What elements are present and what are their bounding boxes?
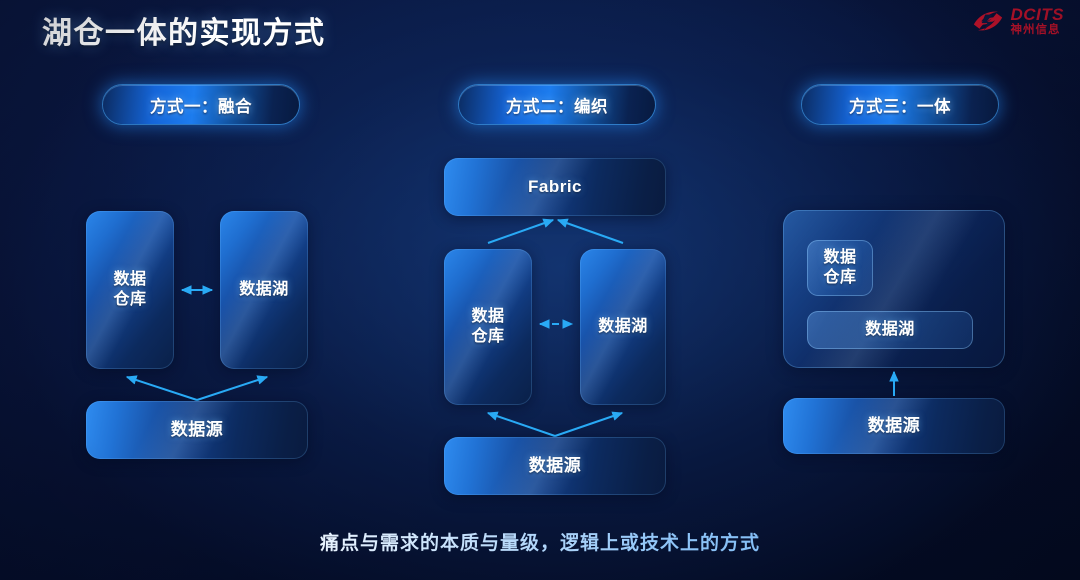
col2-node-lake-label: 数据湖	[598, 317, 648, 337]
col3-node-warehouse-label: 数据 仓库	[823, 248, 856, 287]
col3-node-lake-label: 数据湖	[865, 320, 915, 340]
approach-pill-fusion-label: 方式一：融合	[150, 93, 252, 117]
brand-logo: DCITS 神州信息	[971, 6, 1065, 37]
logo-text-cn: 神州信息	[1011, 25, 1065, 37]
approach-pill-fabric-label: 方式二：编织	[506, 93, 608, 117]
col1-node-lake-label: 数据湖	[239, 280, 289, 300]
col3-unified-container: 数据 仓库 数据湖	[783, 210, 1005, 368]
col2-arrow-source-warehouse	[488, 413, 555, 436]
col2-node-warehouse[interactable]: 数据 仓库	[444, 249, 532, 405]
approach-pill-fusion[interactable]: 方式一：融合	[103, 85, 299, 124]
col1-node-source[interactable]: 数据源	[86, 401, 308, 459]
col2-node-source-label: 数据源	[529, 456, 582, 477]
slide-canvas: 湖仓一体的实现方式 DCITS 神州信息 方式一：融合 方式二：编织 方式三：一…	[0, 0, 1080, 580]
footer-caption: 痛点与需求的本质与量级，逻辑上或技术上的方式	[0, 528, 1080, 555]
col2-arrow-warehouse-fabric	[488, 220, 553, 243]
page-title: 湖仓一体的实现方式	[42, 8, 326, 52]
col3-node-lake[interactable]: 数据湖	[807, 311, 973, 349]
col1-arrow-source-warehouse	[127, 377, 197, 400]
col2-node-lake[interactable]: 数据湖	[580, 249, 666, 405]
col3-node-warehouse[interactable]: 数据 仓库	[807, 240, 873, 296]
col2-node-fabric[interactable]: Fabric	[444, 158, 666, 216]
dcits-swirl-icon	[971, 6, 1005, 36]
col2-arrow-source-lake	[555, 413, 622, 436]
approach-pill-fabric[interactable]: 方式二：编织	[459, 85, 655, 124]
approach-pill-unified-label: 方式三：一体	[849, 93, 951, 117]
col3-node-source[interactable]: 数据源	[783, 398, 1005, 454]
approach-pill-unified[interactable]: 方式三：一体	[802, 85, 998, 124]
logo-text-en: DCITS	[1011, 6, 1065, 23]
col2-node-source[interactable]: 数据源	[444, 437, 666, 495]
col1-node-warehouse-label: 数据 仓库	[113, 270, 146, 309]
col1-node-source-label: 数据源	[171, 420, 224, 441]
col2-arrow-lake-fabric	[558, 220, 623, 243]
col1-node-lake[interactable]: 数据湖	[220, 211, 308, 369]
col1-node-warehouse[interactable]: 数据 仓库	[86, 211, 174, 369]
col1-arrow-source-lake	[197, 377, 267, 400]
col2-node-fabric-label: Fabric	[528, 177, 582, 198]
col2-node-warehouse-label: 数据 仓库	[471, 307, 504, 346]
col3-node-source-label: 数据源	[868, 416, 921, 437]
